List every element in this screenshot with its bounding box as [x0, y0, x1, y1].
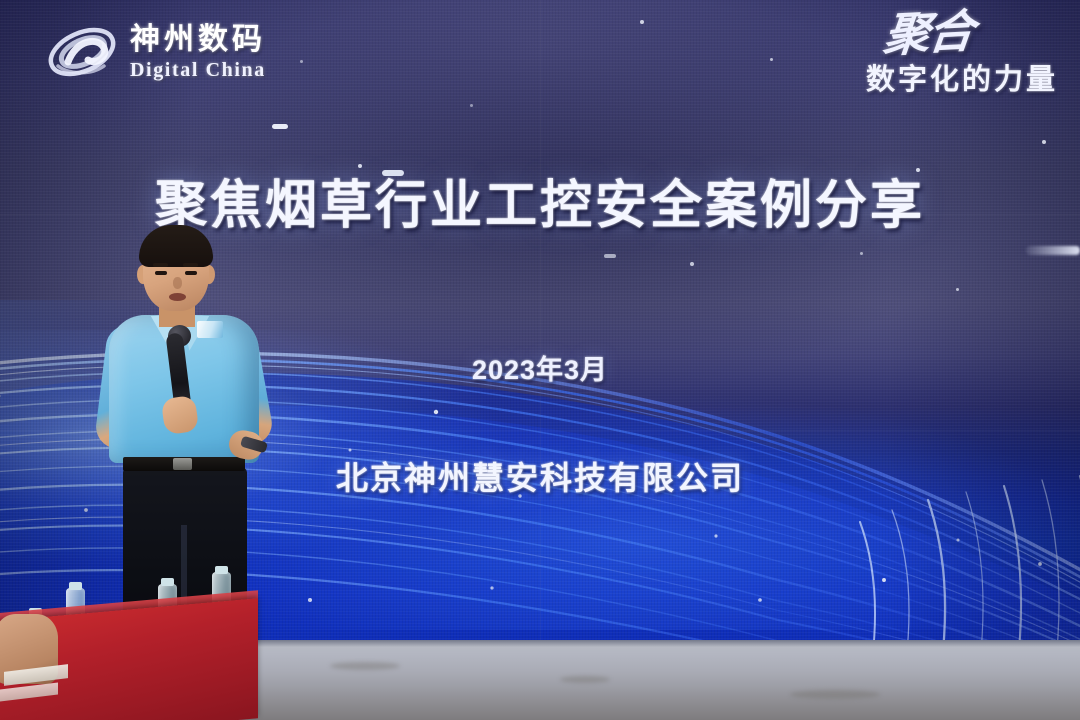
speaker-presenter [95, 225, 290, 620]
speaker-eyebrow-left [153, 263, 168, 267]
light-particle [916, 168, 920, 172]
light-particle [272, 124, 288, 129]
light-particle [860, 252, 863, 255]
brand-logo-digital-china: 神州数码 Digital China [46, 18, 266, 86]
slogan-calligraphy: 聚合 [882, 12, 975, 56]
floor-scuff [330, 662, 400, 670]
speaker-shirt-logo [197, 321, 223, 338]
brand-slogan-lockup: 聚合 数字化的力量 [866, 14, 1058, 98]
light-particle [690, 262, 694, 266]
light-particle [1042, 140, 1046, 144]
floor-scuff [560, 676, 610, 683]
speaker-hair [139, 225, 213, 267]
bottle-cap [69, 582, 82, 590]
light-particle [470, 104, 473, 107]
conference-stage-photo: 神州数码 Digital China 聚合 数字化的力量 聚焦烟草行业工控安全案… [0, 0, 1080, 720]
light-particle [604, 254, 616, 258]
light-particle [956, 288, 959, 291]
edge-light-streak [1026, 246, 1080, 255]
digital-china-swirl-icon [46, 18, 118, 86]
bottle-cap [215, 566, 228, 574]
light-particle [770, 58, 773, 61]
light-particle [640, 20, 644, 24]
floor-scuff [790, 690, 880, 699]
speaker-eye-right [185, 271, 197, 275]
speaker-mouth [169, 293, 186, 301]
speaker-nose [173, 277, 182, 289]
slogan-subtitle: 数字化的力量 [866, 56, 1058, 98]
speaker-eyebrow-right [183, 263, 198, 267]
light-particle [358, 164, 362, 168]
brand-name-cn: 神州数码 [130, 25, 266, 55]
light-particle [300, 60, 303, 63]
light-particle [382, 170, 404, 176]
brand-name-en: Digital China [130, 60, 266, 80]
bottle-cap [161, 578, 174, 586]
speaker-belt-buckle [173, 458, 192, 470]
speaker-eye-left [155, 271, 167, 275]
